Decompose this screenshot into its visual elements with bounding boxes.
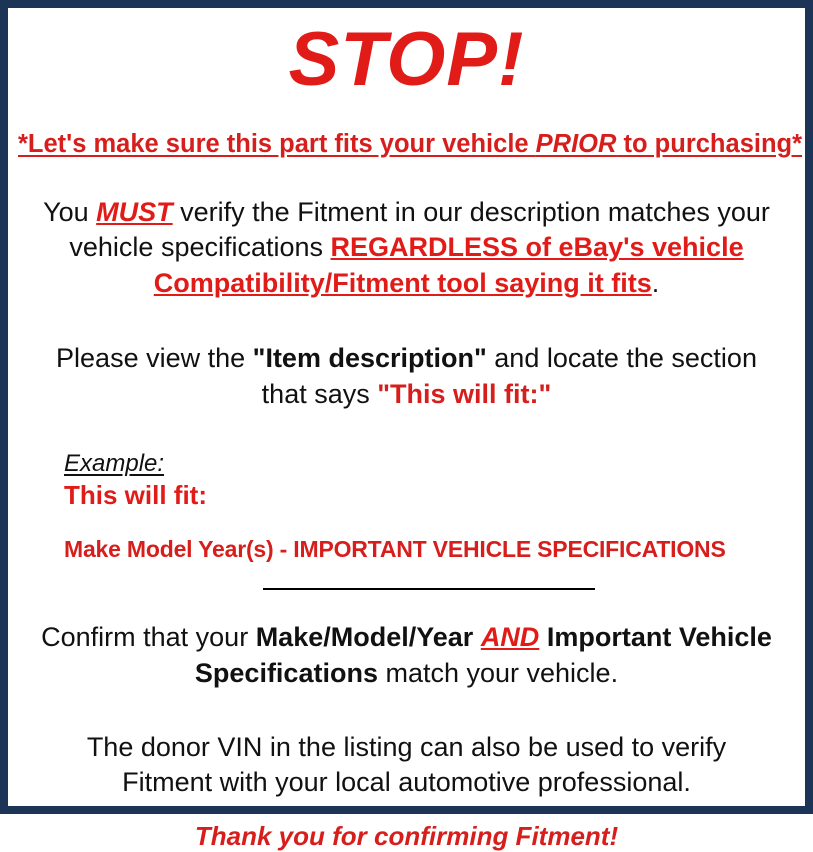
section-divider <box>263 588 595 590</box>
donor-vin-paragraph: The donor VIN in the listing can also be… <box>18 730 795 801</box>
stop-heading: STOP! <box>18 22 795 98</box>
subtitle-part1: *Let's make sure this part fits your veh… <box>18 130 536 158</box>
confirm-part2 <box>473 622 481 652</box>
confirm-part4: match your vehicle. <box>378 658 618 688</box>
must-verify-paragraph: You MUST verify the Fitment in our descr… <box>18 195 795 302</box>
divider-wrap <box>18 588 795 591</box>
itemdesc-part1: Please view the <box>56 343 253 373</box>
must-part1: You <box>43 197 96 227</box>
and-emphasis: AND <box>481 622 540 652</box>
subtitle-line: *Let's make sure this part fits your veh… <box>18 129 795 160</box>
example-spec-line: Make Model Year(s) - IMPORTANT VEHICLE S… <box>64 537 795 562</box>
example-label: Example: <box>64 451 795 477</box>
must-emphasis: MUST <box>96 197 173 227</box>
fitment-notice-card: STOP! *Let's make sure this part fits yo… <box>0 0 813 814</box>
subtitle-part2: to purchasing* <box>616 130 802 158</box>
confirm-part3 <box>539 622 547 652</box>
subtitle-prior-emphasis: PRIOR <box>536 130 617 158</box>
this-will-fit-emphasis: "This will fit:" <box>377 379 551 409</box>
item-description-emphasis: "Item description" <box>253 343 487 373</box>
thank-you-line: Thank you for confirming Fitment! <box>18 821 795 852</box>
example-block: Example: This will fit: Make Model Year(… <box>18 451 795 563</box>
confirm-part1: Confirm that your <box>41 622 256 652</box>
must-part3: . <box>652 268 660 298</box>
example-fit-line: This will fit: <box>64 481 795 511</box>
make-model-year-emphasis: Make/Model/Year <box>256 622 474 652</box>
confirm-paragraph: Confirm that your Make/Model/Year AND Im… <box>18 620 795 691</box>
notice-inner: STOP! *Let's make sure this part fits yo… <box>8 22 805 820</box>
item-description-paragraph: Please view the "Item description" and l… <box>18 341 795 412</box>
